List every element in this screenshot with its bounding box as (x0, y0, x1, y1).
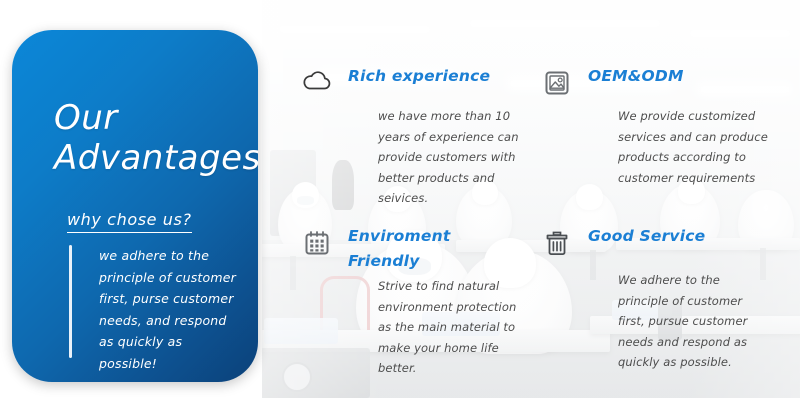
feature-body: we have more than 10 years of experience… (378, 106, 528, 209)
advantages-slide: Our Advantages why chose us? we adhere t… (0, 0, 800, 410)
feature-grid: Rich experience we have more than 10 yea… (300, 60, 780, 390)
feature-card-rich-experience: Rich experience we have more than 10 yea… (300, 60, 530, 209)
quote-text: we adhere to the principle of customer f… (99, 245, 239, 374)
feature-card-good-service: Good Service We adhere to the principle … (540, 220, 770, 373)
feature-header: Rich experience (300, 60, 530, 100)
image-icon (540, 66, 574, 100)
feature-header: OEM&ODM (540, 60, 770, 100)
feature-body: We provide customized services and can p… (618, 106, 768, 188)
feature-header: Enviroment Friendly (300, 220, 530, 274)
panel-subtitle: why chose us? (67, 210, 192, 233)
feature-header: Good Service (540, 220, 770, 260)
page-title: Our Advantages (54, 98, 258, 178)
bottom-white-strip (0, 398, 800, 410)
feature-body: We adhere to the principle of customer f… (618, 270, 768, 373)
feature-card-enviroment-friendly: Enviroment Friendly Strive to find natur… (300, 220, 530, 379)
cloud-icon (300, 66, 334, 100)
panel-quote: we adhere to the principle of customer f… (69, 245, 239, 374)
quote-accent-bar (69, 245, 72, 358)
feature-title: OEM&ODM (588, 64, 738, 89)
feature-title: Enviroment Friendly (348, 224, 498, 274)
advantages-panel: Our Advantages why chose us? we adhere t… (12, 30, 258, 382)
trash-icon (540, 226, 574, 260)
feature-title: Rich experience (348, 64, 498, 89)
feature-card-oem-odm: OEM&ODM We provide customized services a… (540, 60, 770, 188)
feature-body: Strive to find natural environment prote… (378, 276, 528, 379)
calendar-icon (300, 226, 334, 260)
feature-title: Good Service (588, 224, 738, 249)
